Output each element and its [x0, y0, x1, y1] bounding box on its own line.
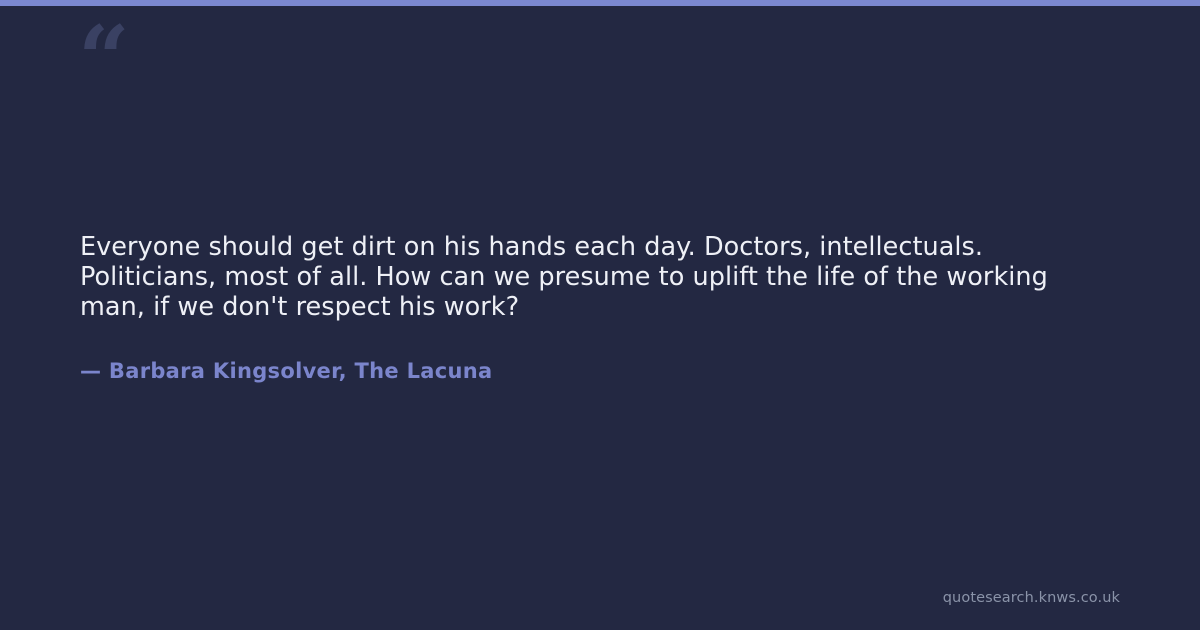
quote-attribution: — Barbara Kingsolver, The Lacuna: [80, 322, 1110, 384]
quote-card: “ Everyone should get dirt on his hands …: [0, 0, 1200, 630]
quote-text: Everyone should get dirt on his hands ea…: [80, 232, 1110, 322]
quote-content: Everyone should get dirt on his hands ea…: [80, 232, 1110, 384]
top-accent-bar: [0, 0, 1200, 6]
source-site-url: quotesearch.knws.co.uk: [943, 590, 1120, 606]
quotation-mark-icon: “: [78, 14, 128, 104]
